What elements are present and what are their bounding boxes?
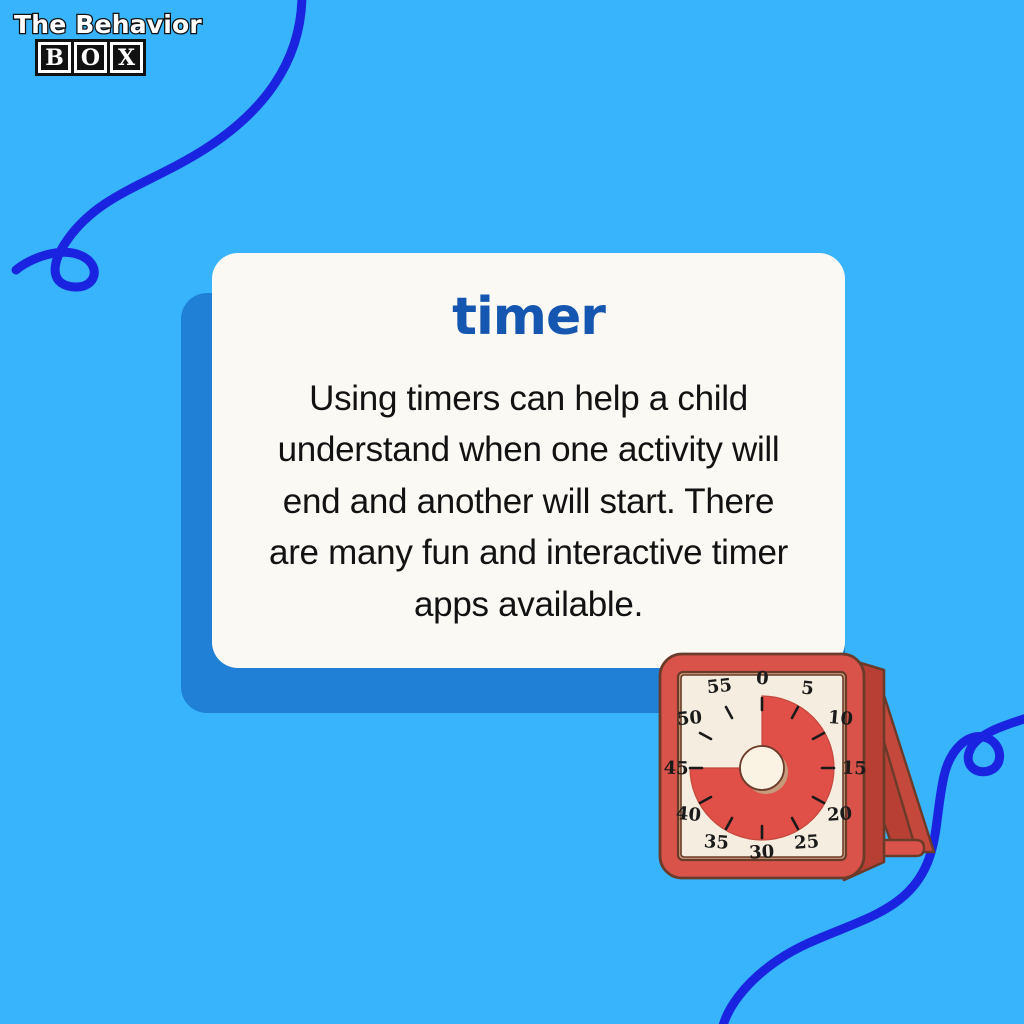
dial-label-15: 15	[841, 758, 867, 780]
page-title: timer	[238, 291, 819, 343]
brand-wordmark: The Behavior	[14, 12, 202, 37]
card-body-text: Using timers can help a child understand…	[238, 373, 819, 630]
content-card: timer Using timers can help a child unde…	[212, 253, 845, 668]
brand-block-x: X	[110, 42, 143, 73]
timer-center-knob	[740, 746, 784, 790]
dial-label-5: 5	[800, 677, 815, 699]
dial-label-30: 30	[749, 841, 775, 863]
brand-block-o: O	[74, 42, 107, 73]
dial-label-55: 55	[706, 675, 733, 699]
dial-label-25: 25	[793, 831, 819, 854]
dial-label-35: 35	[703, 831, 729, 854]
dial-label-10: 10	[827, 707, 854, 730]
visual-timer-illustration: 0 5 10 15 20 25 30 35 40 45 50 55	[648, 640, 958, 902]
dial-label-0: 0	[755, 668, 769, 690]
brand-logo: The Behavior B O X	[14, 12, 202, 73]
body-line: Using timers can help a child	[244, 373, 813, 424]
body-line: end and another will start. There	[244, 476, 813, 527]
dial-label-50: 50	[676, 707, 703, 730]
dial-label-45: 45	[663, 758, 689, 780]
brand-letter-blocks: B O X	[38, 42, 202, 73]
poster-canvas: The Behavior B O X timer Using timers ca…	[0, 0, 1024, 1024]
body-line: understand when one activity will	[244, 424, 813, 475]
dial-label-20: 20	[826, 803, 852, 826]
dial-label-40: 40	[675, 803, 702, 826]
body-line: apps available.	[244, 579, 813, 630]
brand-block-b: B	[38, 42, 71, 73]
body-line: are many fun and interactive timer	[244, 527, 813, 578]
